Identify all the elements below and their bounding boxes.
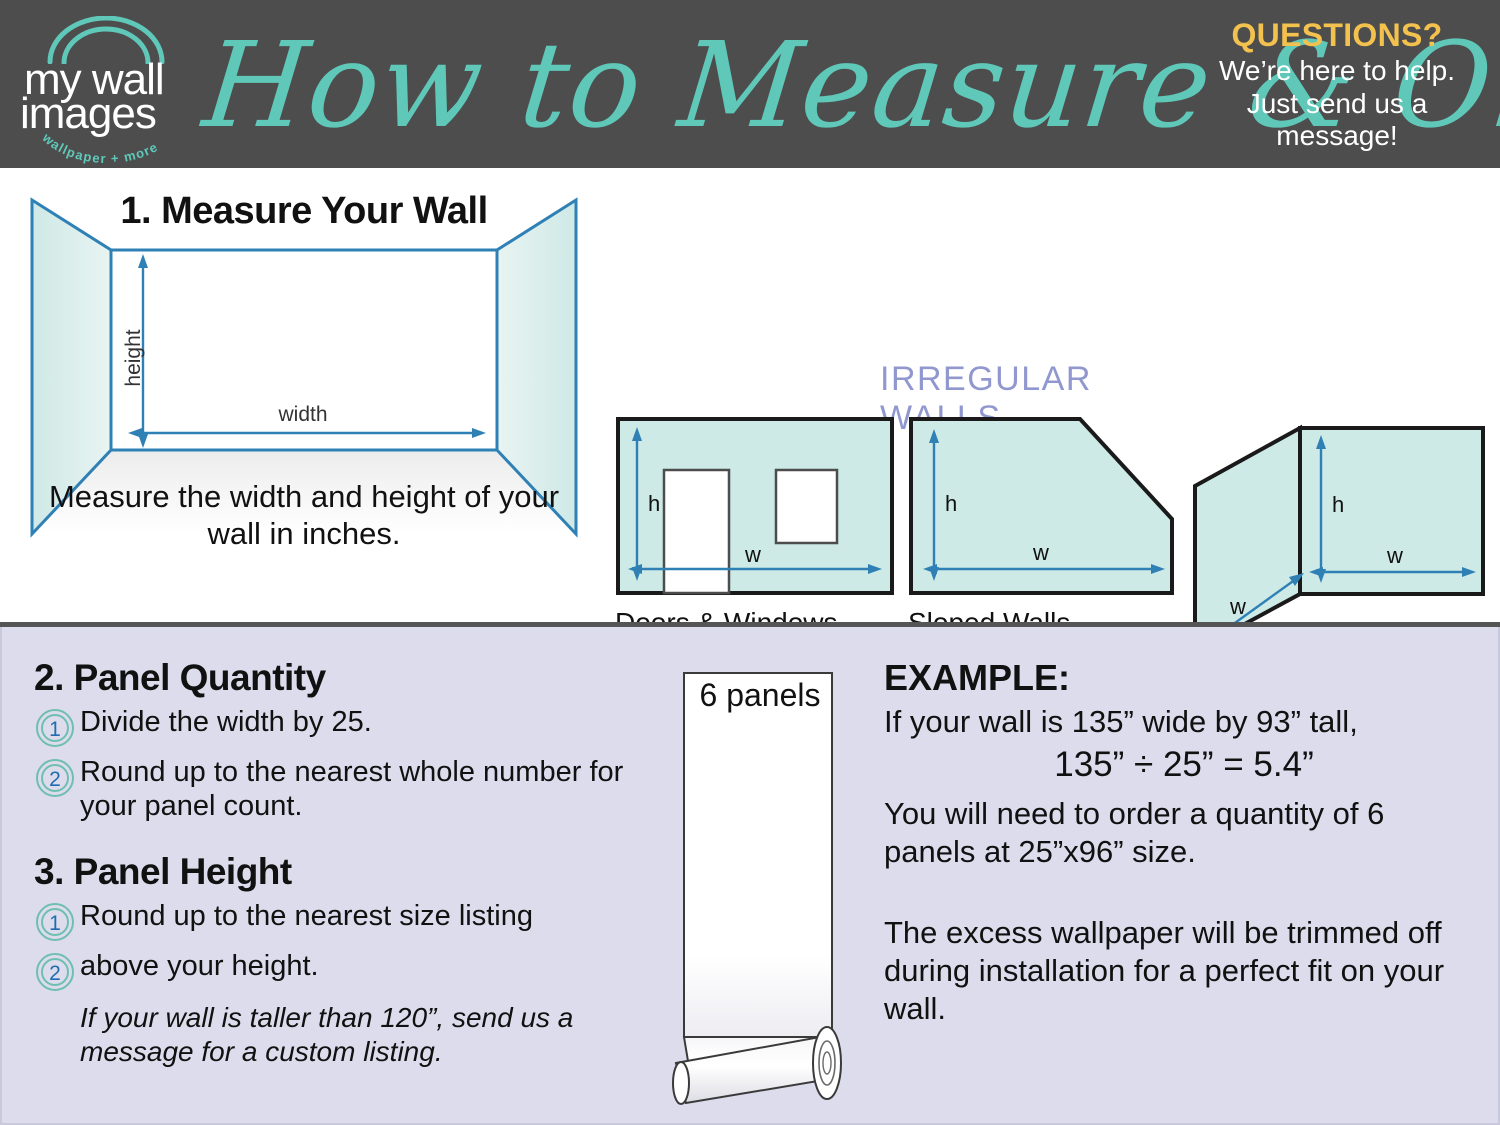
- step-3-title: 3. Panel Height: [34, 851, 634, 893]
- step-3-note: If your wall is taller than 120”, send u…: [80, 1001, 634, 1068]
- width-label: width: [277, 403, 327, 426]
- h-label: h: [945, 491, 957, 516]
- roll-right-cap: [813, 1027, 841, 1099]
- step-2-item-1: 1 Divide the width by 25.: [34, 705, 634, 749]
- questions-body: We’re here to help. Just send us a messa…: [1192, 55, 1482, 152]
- quantity-section: 2. Panel Quantity 1 Divide the width by …: [0, 627, 1500, 1125]
- w-label: w: [1032, 540, 1049, 565]
- badge-1-number: 1: [49, 912, 61, 935]
- multiple-walls-diagram: h w w: [1190, 416, 1490, 656]
- badge-2-icon: 2: [34, 951, 76, 993]
- h-label: h: [1332, 492, 1344, 517]
- logo-tagline-text: wallpaper + more: [39, 129, 161, 166]
- w-label: w: [744, 542, 761, 567]
- brand-logo: my wall images wallpaper + more: [18, 14, 188, 154]
- roll-left-cap: [673, 1062, 689, 1104]
- badge-1-icon: 1: [34, 901, 76, 943]
- page-title: How to Measure & Order: [197, 12, 1212, 157]
- steps-2-3: 2. Panel Quantity 1 Divide the width by …: [34, 657, 634, 1069]
- doors-windows-diagram: h w: [615, 416, 895, 596]
- example-paragraph-2: You will need to order a quantity of 6 p…: [884, 795, 1484, 871]
- logo-tagline: wallpaper + more: [32, 126, 182, 168]
- door-rect: [664, 470, 729, 593]
- roll-panel-count-label: 6 panels: [680, 677, 840, 714]
- panel-sheet: [684, 673, 832, 1037]
- step-2-item-1-text: Divide the width by 25.: [76, 705, 372, 739]
- header-bar: my wall images wallpaper + more How to M…: [0, 0, 1500, 168]
- svg-text:wallpaper + more: wallpaper + more: [39, 129, 161, 166]
- badge-2-icon: 2: [34, 757, 76, 799]
- questions-heading: QUESTIONS?: [1192, 18, 1482, 53]
- h-label: h: [648, 491, 660, 516]
- window-rect: [776, 470, 837, 543]
- badge-1-number: 1: [49, 718, 61, 741]
- sloped-wall-diagram: h w: [908, 416, 1178, 596]
- step-1-measure-wall: height width 1. Measure Your Wall Measur…: [8, 178, 600, 578]
- badge-2-number: 2: [49, 768, 61, 791]
- step-1-title: 1. Measure Your Wall: [8, 190, 600, 233]
- example-line-1: If your wall is 135” wide by 93” tall,: [884, 703, 1484, 741]
- step-3-item-1: 1 Round up to the nearest size listing: [34, 899, 634, 943]
- step-3-item-1-text: Round up to the nearest size listing: [76, 899, 533, 933]
- height-label: height: [122, 329, 145, 386]
- w-label-side: w: [1229, 594, 1246, 619]
- infographic-page: my wall images wallpaper + more How to M…: [0, 0, 1500, 1125]
- example-equation: 135” ÷ 25” = 5.4”: [884, 745, 1484, 785]
- example-paragraph-3: The excess wallpaper will be trimmed off…: [884, 914, 1484, 1027]
- step-2-title: 2. Panel Quantity: [34, 657, 634, 699]
- wallpaper-roll-illustration: [670, 667, 870, 1107]
- side-wall-plane: [1195, 428, 1300, 651]
- example-block: EXAMPLE: If your wall is 135” wide by 93…: [884, 657, 1484, 1028]
- badge-2-number: 2: [49, 962, 61, 985]
- w-label-front: w: [1386, 543, 1403, 568]
- badge-1-icon: 1: [34, 707, 76, 749]
- measure-section: height width 1. Measure Your Wall Measur…: [0, 168, 1500, 624]
- step-3-item-2: 2 above your height.: [34, 949, 634, 993]
- step-3-item-2-text: above your height.: [76, 949, 319, 983]
- step-2-item-2: 2 Round up to the nearest whole number f…: [34, 755, 634, 823]
- front-wall-plane: [1300, 428, 1483, 594]
- step-1-caption: Measure the width and height of your wal…: [38, 478, 570, 552]
- step-2-item-2-text: Round up to the nearest whole number for…: [76, 755, 634, 823]
- questions-block: QUESTIONS? We’re here to help. Just send…: [1192, 18, 1482, 153]
- example-heading: EXAMPLE:: [884, 657, 1484, 699]
